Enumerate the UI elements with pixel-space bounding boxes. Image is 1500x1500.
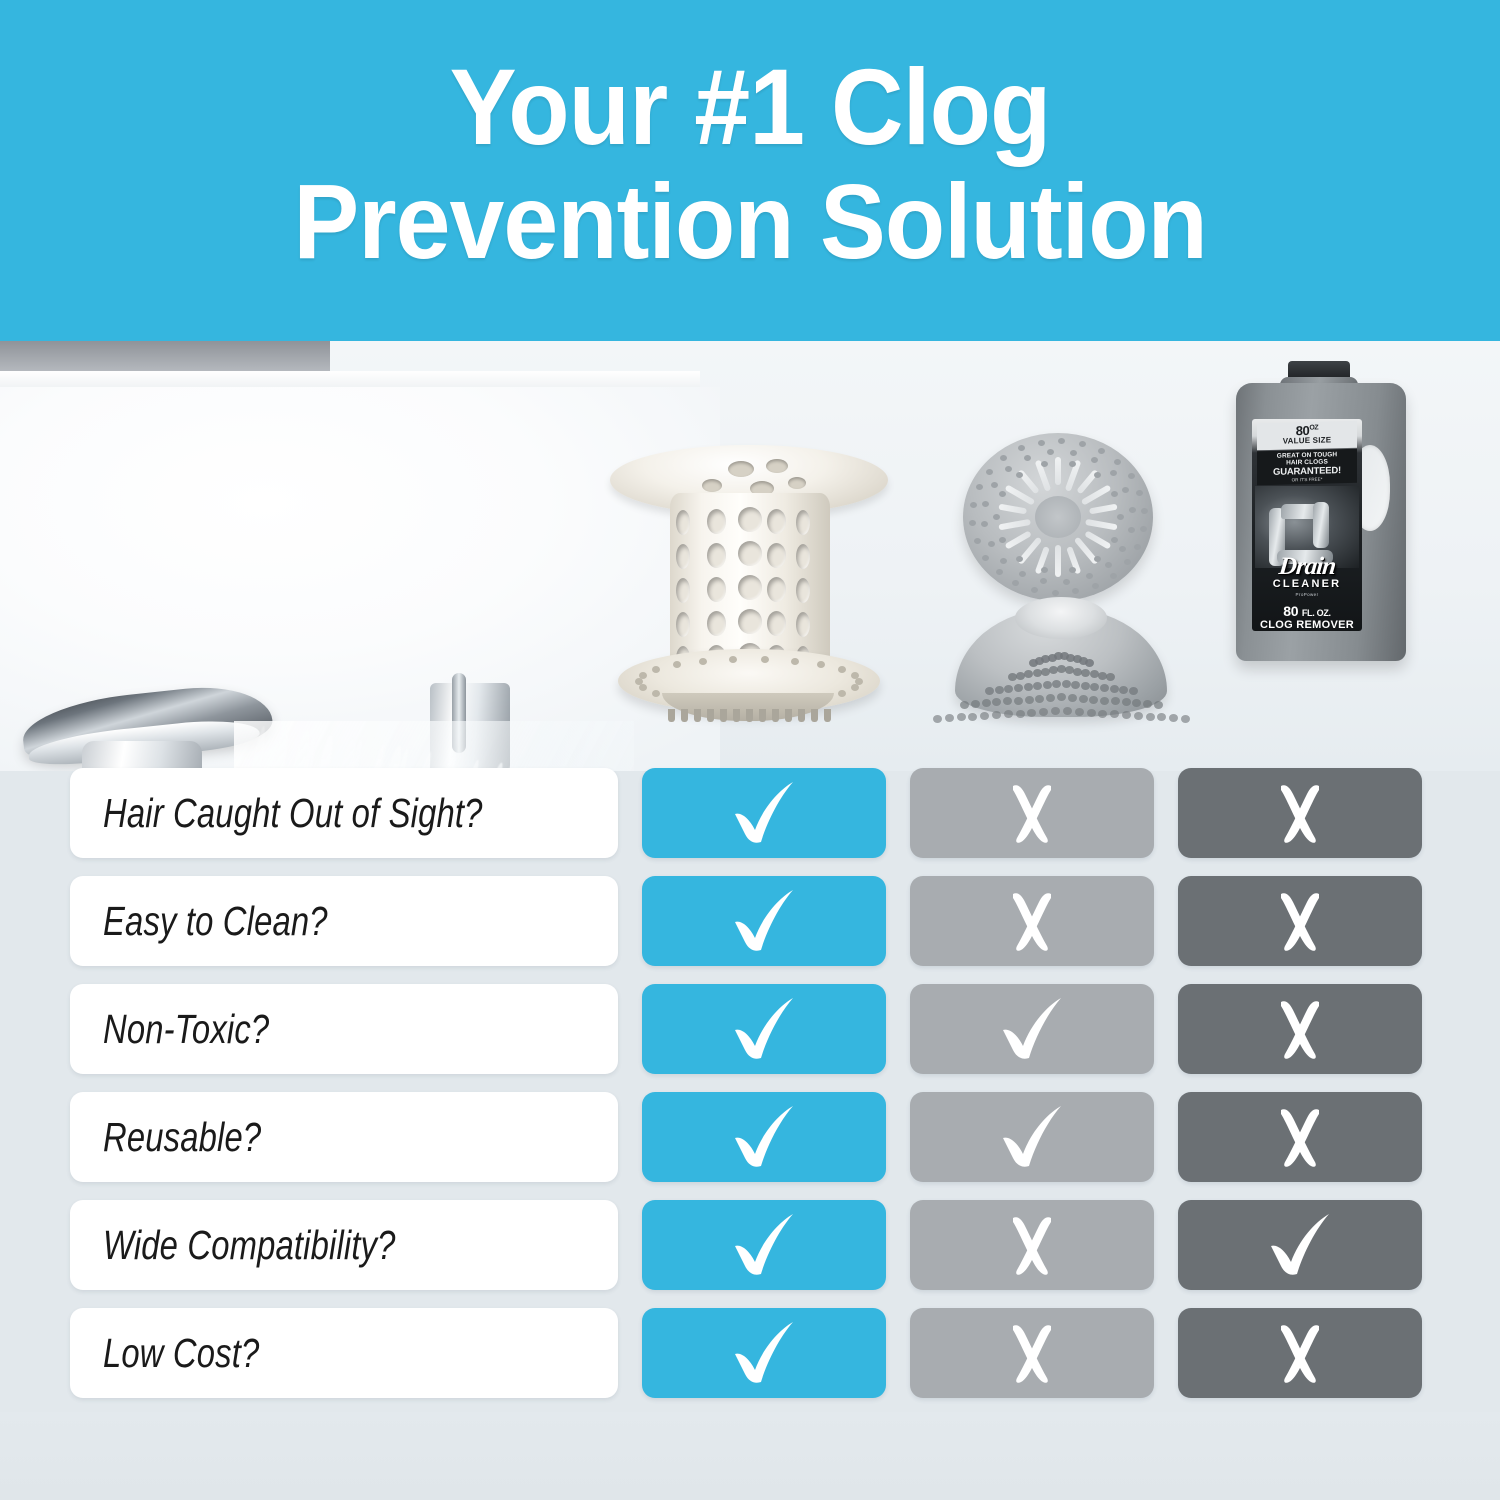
comparison-cell-col_product bbox=[642, 984, 886, 1074]
comparison-cell-col_cleaner bbox=[1178, 984, 1422, 1074]
check-icon bbox=[1261, 1210, 1339, 1280]
check-icon bbox=[725, 886, 803, 956]
table-row: Reusable? bbox=[70, 1092, 1428, 1182]
x-icon bbox=[1001, 1212, 1063, 1278]
check-icon bbox=[725, 1210, 803, 1280]
comparison-cell-col_silicone bbox=[910, 1092, 1154, 1182]
header-banner: Your #1 Clog Prevention Solution bbox=[0, 0, 1500, 341]
table-row: Low Cost? bbox=[70, 1308, 1428, 1398]
comparison-cell-col_product bbox=[642, 876, 886, 966]
x-icon bbox=[1269, 1320, 1331, 1386]
table-row: Wide Compatibility? bbox=[70, 1200, 1428, 1290]
feature-label-text: Low Cost? bbox=[103, 1330, 259, 1377]
product-image-flat-drain-cover bbox=[963, 433, 1153, 601]
feature-label-cell: Hair Caught Out of Sight? bbox=[70, 768, 618, 858]
feature-label-cell: Non-Toxic? bbox=[70, 984, 618, 1074]
bottle-brand-fine: ProPower bbox=[1296, 592, 1319, 597]
x-icon bbox=[1269, 1104, 1331, 1170]
feature-label-text: Reusable? bbox=[103, 1114, 261, 1161]
table-row: Non-Toxic? bbox=[70, 984, 1428, 1074]
table-row: Easy to Clean? bbox=[70, 876, 1428, 966]
bottle-value-size: VALUE SIZE bbox=[1257, 436, 1357, 447]
bottle-label: 80OZ VALUE SIZE GREAT ON TOUGH HAIR CLOG… bbox=[1252, 419, 1362, 631]
product-image-dome-drain-cover bbox=[955, 591, 1167, 721]
headline-line-1: Your #1 Clog bbox=[450, 53, 1051, 161]
feature-label-cell: Wide Compatibility? bbox=[70, 1200, 618, 1290]
product-photo-stage: 80OZ VALUE SIZE GREAT ON TOUGH HAIR CLOG… bbox=[0, 341, 1500, 771]
comparison-cell-col_silicone bbox=[910, 876, 1154, 966]
feature-label-cell: Reusable? bbox=[70, 1092, 618, 1182]
bottle-volume-number: 80 bbox=[1283, 603, 1298, 619]
bottle-size-unit: OZ bbox=[1309, 424, 1318, 431]
feature-label-text: Easy to Clean? bbox=[103, 898, 328, 945]
comparison-cell-col_cleaner bbox=[1178, 768, 1422, 858]
footer-background bbox=[0, 1412, 1500, 1500]
bottle-volume-unit: FL. OZ. bbox=[1302, 608, 1331, 618]
check-icon bbox=[725, 1318, 803, 1388]
water-stream-icon bbox=[230, 721, 650, 771]
comparison-cell-col_product bbox=[642, 1308, 886, 1398]
bathroom-wall bbox=[0, 341, 330, 375]
comparison-cell-col_product bbox=[642, 1092, 886, 1182]
comparison-cell-col_silicone bbox=[910, 1200, 1154, 1290]
x-icon bbox=[1001, 780, 1063, 846]
comparison-table: Hair Caught Out of Sight?Easy to Clean?N… bbox=[0, 768, 1500, 1418]
x-icon bbox=[1001, 888, 1063, 954]
check-icon bbox=[725, 778, 803, 848]
x-icon bbox=[1001, 1320, 1063, 1386]
feature-label-text: Wide Compatibility? bbox=[103, 1222, 396, 1269]
x-icon bbox=[1269, 888, 1331, 954]
check-icon bbox=[725, 1102, 803, 1172]
feature-label-text: Hair Caught Out of Sight? bbox=[103, 790, 483, 837]
comparison-cell-col_cleaner bbox=[1178, 1200, 1422, 1290]
comparison-cell-col_silicone bbox=[910, 768, 1154, 858]
comparison-cell-col_silicone bbox=[910, 1308, 1154, 1398]
feature-label-cell: Low Cost? bbox=[70, 1308, 618, 1398]
x-icon bbox=[1269, 780, 1331, 846]
check-icon bbox=[993, 1102, 1071, 1172]
table-row: Hair Caught Out of Sight? bbox=[70, 768, 1428, 858]
product-image-drain-cleaner: 80OZ VALUE SIZE GREAT ON TOUGH HAIR CLOG… bbox=[1236, 361, 1406, 661]
bottle-brand-name: Drain bbox=[1278, 556, 1337, 579]
comparison-cell-col_cleaner bbox=[1178, 1092, 1422, 1182]
feature-label-cell: Easy to Clean? bbox=[70, 876, 618, 966]
comparison-cell-col_silicone bbox=[910, 984, 1154, 1074]
check-icon bbox=[725, 994, 803, 1064]
feature-label-text: Non-Toxic? bbox=[103, 1006, 269, 1053]
comparison-cell-col_product bbox=[642, 1200, 886, 1290]
check-icon bbox=[993, 994, 1071, 1064]
x-icon bbox=[1269, 996, 1331, 1062]
product-image-strainer bbox=[600, 441, 900, 741]
comparison-cell-col_product bbox=[642, 768, 886, 858]
comparison-cell-col_cleaner bbox=[1178, 1308, 1422, 1398]
bottle-product-type: CLOG REMOVER bbox=[1260, 619, 1354, 631]
headline-line-2: Prevention Solution bbox=[293, 169, 1206, 275]
comparison-cell-col_cleaner bbox=[1178, 876, 1422, 966]
